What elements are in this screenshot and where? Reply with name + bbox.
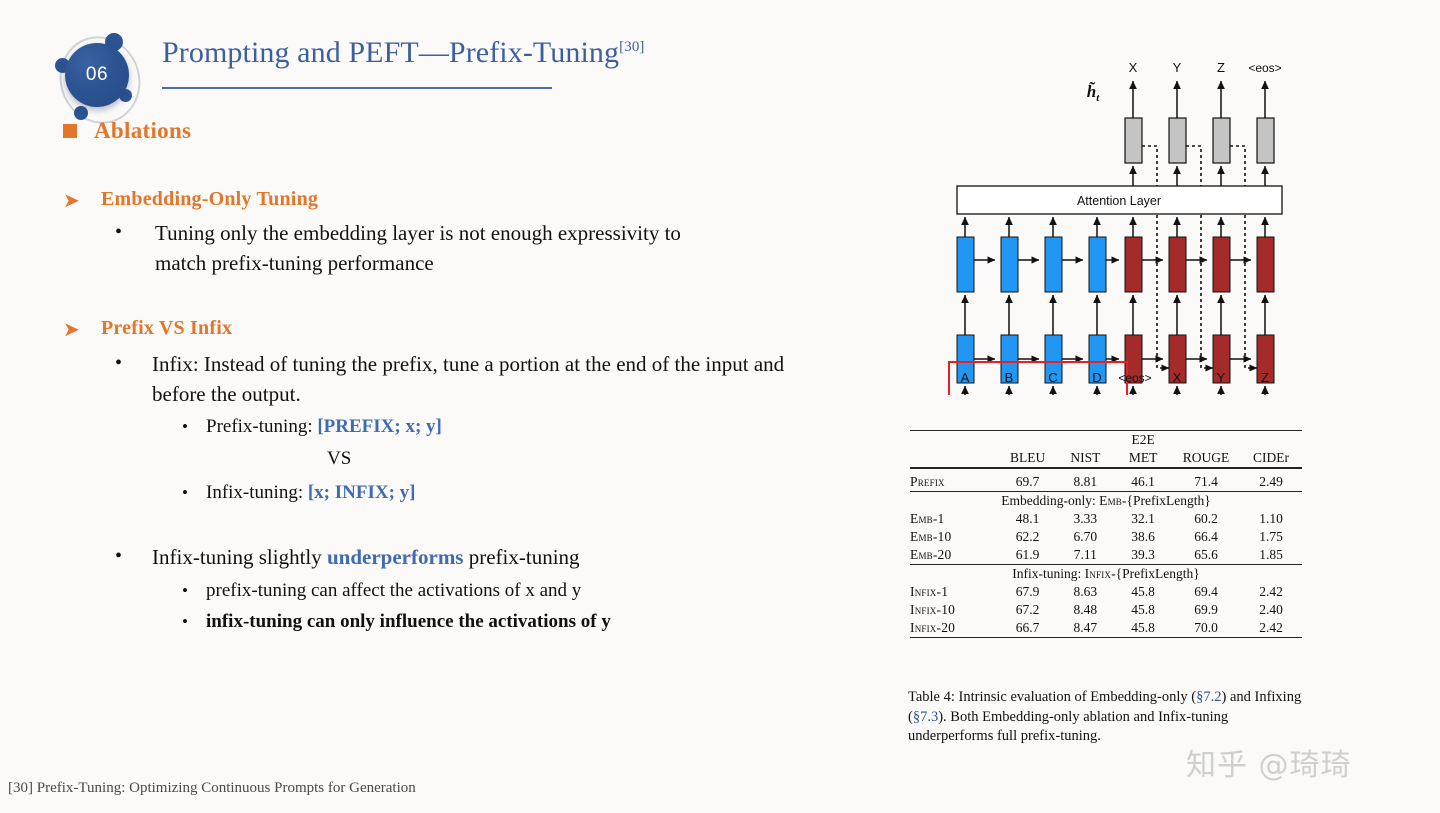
- output-token-eos: <eos>: [1248, 61, 1281, 75]
- conclusion-point-2: infix-tuning can only influence the acti…: [206, 609, 611, 636]
- prefix-tuning-form: Prefix-tuning: [PREFIX; x; y]: [206, 414, 442, 441]
- section-header-infix-sc: Infix: [1085, 566, 1112, 581]
- cell: 1.85: [1240, 546, 1302, 565]
- input-token-x: X: [1173, 370, 1182, 385]
- section-header-infix-tail: -{PrefixLength}: [1111, 566, 1200, 581]
- row-name-emb-10: Emb-10: [910, 528, 999, 546]
- bullet-dot-icon: •: [182, 418, 188, 435]
- page-title-text: Prompting and PEFT—Prefix-Tuning: [162, 36, 619, 69]
- cell: 45.8: [1114, 583, 1172, 601]
- row-name-prefix: Prefix: [910, 468, 999, 492]
- chevron-right-icon: ➤: [63, 188, 80, 212]
- cell: 8.63: [1056, 583, 1114, 601]
- row-name-infix-10: Infix-10: [910, 601, 999, 619]
- table-section-header-infix: Infix-tuning: Infix-{PrefixLength}: [910, 565, 1302, 584]
- attention-layer-label: Attention Layer: [1077, 194, 1161, 208]
- input-token-d: D: [1092, 370, 1101, 385]
- cell: 32.1: [1114, 510, 1172, 528]
- bullet-dot-icon: •: [182, 613, 188, 630]
- output-block-eos: [1257, 118, 1274, 163]
- cell: 8.48: [1056, 601, 1114, 619]
- badge-dot-4: [74, 106, 88, 120]
- decoder-block-upper-x: [1169, 237, 1186, 292]
- output-token-x: X: [1129, 60, 1138, 75]
- prefix-tuning-code: [PREFIX; x; y]: [317, 416, 442, 437]
- watermark: 知乎 @琦琦: [1186, 740, 1352, 784]
- input-token-b: B: [1005, 370, 1014, 385]
- cell: 7.11: [1056, 546, 1114, 565]
- section-header-infix-plain: Infix-tuning:: [1012, 566, 1084, 581]
- row-name-infix-20: Infix-20: [910, 619, 999, 638]
- table-row: Infix-10 67.2 8.48 45.8 69.9 2.40: [910, 601, 1302, 619]
- page-title-citation: [30]: [619, 39, 644, 55]
- table-col-met: MET: [1114, 449, 1172, 468]
- table-row: Emb-1 48.1 3.33 32.1 60.2 1.10: [910, 510, 1302, 528]
- input-token-z: Z: [1261, 370, 1269, 385]
- diagram-interlayer-arrows: [965, 295, 1265, 335]
- diagram-upper-row-blocks: [957, 237, 1274, 292]
- conclusion-lead-post: prefix-tuning: [463, 545, 579, 569]
- table-col-0: [910, 449, 999, 468]
- conclusion-lead-highlight: underperforms: [327, 545, 463, 569]
- input-token-y: Y: [1217, 370, 1226, 385]
- diagram-input-arrows: [965, 386, 1265, 395]
- table-col-bleu: BLEU: [999, 449, 1057, 468]
- diagram-output-arrows: [1133, 81, 1265, 118]
- results-table-grid: E2E BLEU NIST MET ROUGE CIDEr Prefix 69.…: [910, 430, 1302, 641]
- output-block-z: [1213, 118, 1230, 163]
- square-bullet-icon: [63, 124, 77, 138]
- cell: 8.47: [1056, 619, 1114, 638]
- section-heading: Ablations: [94, 118, 191, 144]
- diagram-output-blocks: [1125, 118, 1274, 163]
- badge-number-label: 06: [86, 64, 108, 86]
- output-token-y: Y: [1173, 60, 1182, 75]
- cell: 2.49: [1240, 468, 1302, 492]
- table-row: Emb-10 62.2 6.70 38.6 66.4 1.75: [910, 528, 1302, 546]
- table-top-rule: E2E: [910, 431, 1302, 450]
- table-col-rouge: ROUGE: [1172, 449, 1240, 468]
- infix-tuning-code: [x; INFIX; y]: [308, 482, 416, 503]
- diagram-input-labels: A B C D <eos> X Y Z: [961, 370, 1269, 385]
- cell: 67.2: [999, 601, 1057, 619]
- section-header-embedding-sc: Emb: [1099, 493, 1122, 508]
- decoder-block-upper-y: [1213, 237, 1230, 292]
- row-name-emb-1: Emb-1: [910, 510, 999, 528]
- table-row: Infix-20 66.7 8.47 45.8 70.0 2.42: [910, 619, 1302, 638]
- caption-ref-7-3: §7.3: [913, 709, 938, 725]
- table-row: Emb-20 61.9 7.11 39.3 65.6 1.85: [910, 546, 1302, 565]
- cell: 3.33: [1056, 510, 1114, 528]
- diagram-output-labels: X Y Z <eos>: [1129, 60, 1282, 75]
- decoder-block-upper-z: [1257, 237, 1274, 292]
- encoder-block-upper-d: [1089, 237, 1106, 292]
- encoder-block-upper-b: [1001, 237, 1018, 292]
- caption-prefix: Table 4: Intrinsic evaluation of Embeddi…: [908, 689, 1196, 705]
- cell: 71.4: [1172, 468, 1240, 492]
- table-bottom-rule: [910, 638, 1302, 642]
- cell: 2.40: [1240, 601, 1302, 619]
- cell: 62.2: [999, 528, 1057, 546]
- cell: 66.4: [1172, 528, 1240, 546]
- cell: 45.8: [1114, 619, 1172, 638]
- cell: 65.6: [1172, 546, 1240, 565]
- row-name-infix-1: Infix-1: [910, 583, 999, 601]
- cell: 8.81: [1056, 468, 1114, 492]
- slide-number-badge: 06: [46, 26, 150, 130]
- prefix-tuning-label: Prefix-tuning:: [206, 416, 317, 437]
- input-token-a: A: [961, 370, 970, 385]
- infix-tuning-form: Infix-tuning: [x; INFIX; y]: [206, 480, 416, 507]
- page-title: Prompting and PEFT—Prefix-Tuning[30]: [162, 36, 645, 70]
- table-caption: Table 4: Intrinsic evaluation of Embeddi…: [908, 688, 1304, 747]
- prefix-tuning-architecture-diagram: X Y Z <eos> h̃t: [905, 45, 1305, 395]
- input-token-c: C: [1048, 370, 1057, 385]
- slide-root: 06 Prompting and PEFT—Prefix-Tuning[30] …: [0, 0, 1440, 813]
- cell: 38.6: [1114, 528, 1172, 546]
- cell: 2.42: [1240, 619, 1302, 638]
- cell: 6.70: [1056, 528, 1114, 546]
- cell: 69.4: [1172, 583, 1240, 601]
- output-token-z: Z: [1217, 60, 1225, 75]
- cell: 69.7: [999, 468, 1057, 492]
- reference-footnote: [30] Prefix-Tuning: Optimizing Continuou…: [8, 780, 416, 797]
- cell: 2.42: [1240, 583, 1302, 601]
- section-header-embedding-plain: Embedding-only:: [1001, 493, 1099, 508]
- encoder-block-upper-a: [957, 237, 974, 292]
- diagram-feedback-lines: [1142, 146, 1257, 368]
- output-block-x: [1125, 118, 1142, 163]
- table-row: Infix-1 67.9 8.63 45.8 69.4 2.42: [910, 583, 1302, 601]
- cell: 69.9: [1172, 601, 1240, 619]
- caption-suffix: ). Both Embedding-only ablation and Infi…: [908, 709, 1228, 745]
- bullet-dot-icon: •: [182, 484, 188, 501]
- chevron-right-icon: ➤: [63, 317, 80, 341]
- title-underline: [162, 87, 552, 89]
- cell: 45.8: [1114, 601, 1172, 619]
- table-group-header-e2e: E2E: [1114, 431, 1172, 450]
- bullet-dot-icon: •: [115, 353, 122, 373]
- cell: 61.9: [999, 546, 1057, 565]
- vs-separator: VS: [327, 446, 351, 473]
- table-col-cider: CIDEr: [1240, 449, 1302, 468]
- bullet-infix-definition: Infix: Instead of tuning the prefix, tun…: [152, 350, 798, 410]
- section-header-embedding-tail: -{PrefixLength}: [1122, 493, 1211, 508]
- conclusion-lead-pre: Infix-tuning slightly: [152, 545, 327, 569]
- cell: 67.9: [999, 583, 1057, 601]
- diagram-svg: X Y Z <eos> h̃t: [905, 45, 1305, 395]
- row-name-emb-20: Emb-20: [910, 546, 999, 565]
- subsection-heading-embedding-only: Embedding-Only Tuning: [101, 188, 318, 211]
- table-column-headers: BLEU NIST MET ROUGE CIDEr: [910, 449, 1302, 468]
- decoder-block-upper-eos: [1125, 237, 1142, 292]
- subsection-heading-prefix-vs-infix: Prefix VS Infix: [101, 317, 232, 340]
- encoder-block-upper-c: [1045, 237, 1062, 292]
- table-col-nist: NIST: [1056, 449, 1114, 468]
- bullet-dot-icon: •: [115, 546, 122, 566]
- cell: 66.7: [999, 619, 1057, 638]
- cell: 48.1: [999, 510, 1057, 528]
- cell: 60.2: [1172, 510, 1240, 528]
- results-table: E2E BLEU NIST MET ROUGE CIDEr Prefix 69.…: [910, 430, 1302, 641]
- conclusion-lead: Infix-tuning slightly underperforms pref…: [152, 543, 580, 573]
- conclusion-point-1: prefix-tuning can affect the activations…: [206, 578, 581, 605]
- hidden-state-label: h̃t: [1087, 81, 1100, 104]
- cell: 70.0: [1172, 619, 1240, 638]
- cell: 39.3: [1114, 546, 1172, 565]
- input-token-eos: <eos>: [1118, 371, 1151, 385]
- cell: 1.10: [1240, 510, 1302, 528]
- bullet-dot-icon: •: [115, 222, 122, 242]
- diagram-to-attention-arrows: [965, 217, 1265, 237]
- infix-tuning-label: Infix-tuning:: [206, 482, 308, 503]
- caption-ref-7-2: §7.2: [1196, 689, 1221, 705]
- output-block-y: [1169, 118, 1186, 163]
- badge-circle: 06: [65, 43, 129, 107]
- bullet-embedding-only-1: Tuning only the embedding layer is not e…: [155, 219, 715, 279]
- table-row: Prefix 69.7 8.81 46.1 71.4 2.49: [910, 468, 1302, 492]
- bullet-dot-icon: •: [182, 582, 188, 599]
- cell: 1.75: [1240, 528, 1302, 546]
- cell: 46.1: [1114, 468, 1172, 492]
- table-section-header-embedding: Embedding-only: Emb-{PrefixLength}: [910, 492, 1302, 511]
